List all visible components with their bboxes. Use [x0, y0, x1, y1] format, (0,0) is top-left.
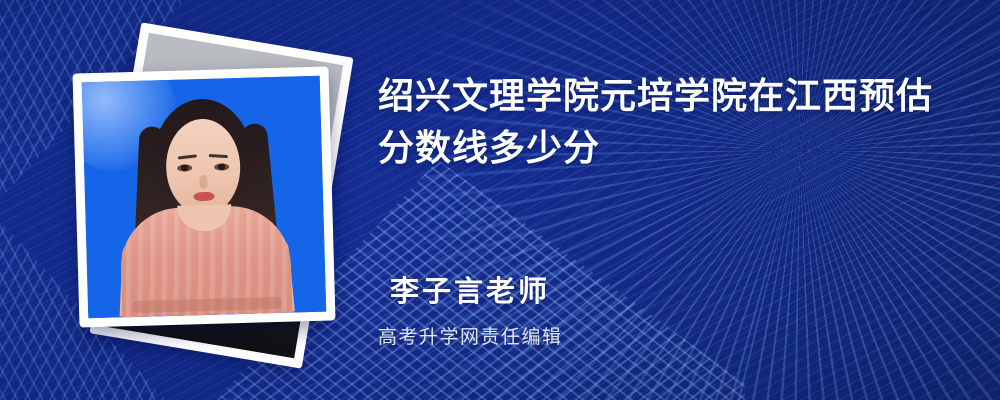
photo-front-card	[73, 66, 336, 327]
page-title: 绍兴文理学院元培学院在江西预估分数线多少分	[378, 70, 958, 174]
portrait-photo	[82, 76, 326, 319]
author-role: 高考升学网责任编辑	[378, 322, 563, 349]
portrait-eyebrow-left	[178, 154, 197, 159]
photo-card-stack	[62, 36, 362, 356]
article-cover-banner: 绍兴文理学院元培学院在江西预估分数线多少分 李子言老师 高考升学网责任编辑	[0, 0, 1000, 400]
text-block: 绍兴文理学院元培学院在江西预估分数线多少分 李子言老师 高考升学网责任编辑	[378, 0, 978, 400]
portrait-lips	[193, 192, 214, 202]
portrait-nose	[199, 175, 207, 189]
portrait-eyebrow-right	[209, 154, 228, 158]
portrait-eye-left	[177, 164, 192, 171]
portrait-eye-right	[214, 163, 229, 170]
author-name: 李子言老师	[390, 268, 550, 310]
